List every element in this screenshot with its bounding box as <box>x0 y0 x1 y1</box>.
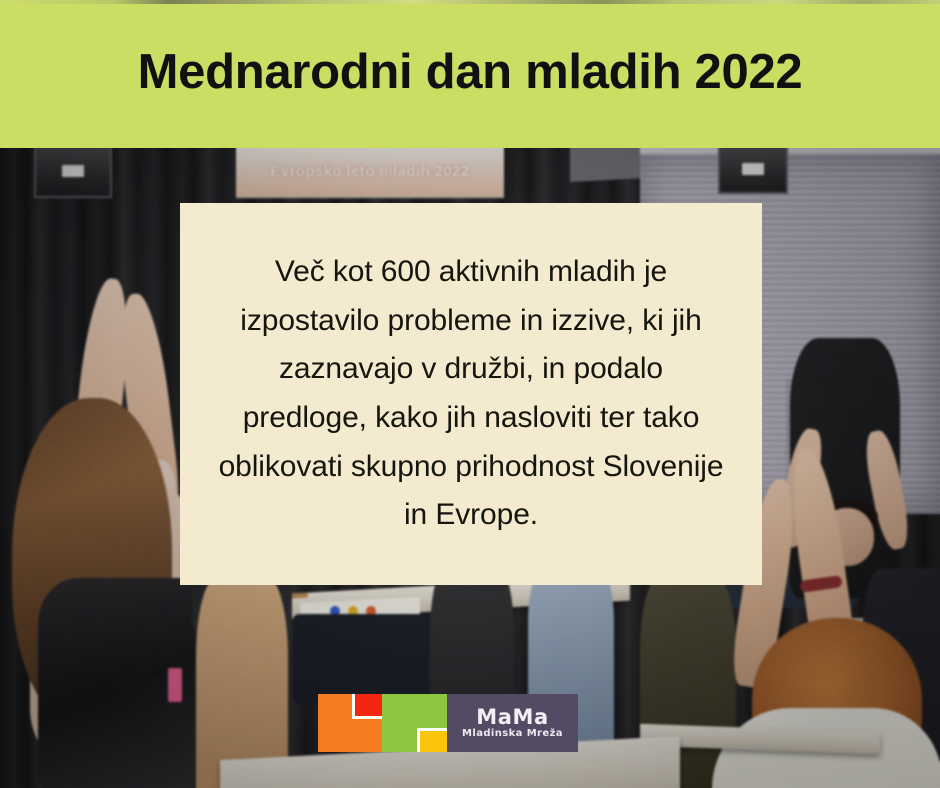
logo-square-yellow <box>417 728 447 752</box>
participant-left-skirt <box>38 578 218 788</box>
ceiling-speaker-right <box>718 148 788 194</box>
mama-logo-plate: MaMa Mladinska Mreža <box>447 694 578 752</box>
desk-item <box>168 668 182 702</box>
logo-square-green <box>382 694 447 752</box>
page-title: Mednarodni dan mladih 2022 <box>138 48 803 101</box>
mama-logo: MaMa Mladinska Mreža <box>318 694 578 752</box>
header-banner: Mednarodni dan mladih 2022 <box>0 0 940 148</box>
logo-square-red <box>352 694 382 719</box>
ceiling-speaker-left <box>34 148 112 198</box>
projector-screen: Evropsko leto mladih 2022 <box>236 148 504 198</box>
mama-logo-tagline: Mladinska Mreža <box>462 729 563 739</box>
projector-screen-text: Evropsko leto mladih 2022 <box>270 163 469 180</box>
logo-square-orange <box>318 694 382 752</box>
mama-logo-marks <box>318 694 447 752</box>
caption-text: Več kot 600 aktivnih mladih je izpostavi… <box>214 248 728 540</box>
speaker-badge-icon <box>742 163 764 175</box>
photo-top-sliver <box>0 0 940 4</box>
caption-card: Več kot 600 aktivnih mladih je izpostavi… <box>180 203 762 585</box>
poster: Evropsko leto mladih 2022 <box>0 0 940 788</box>
mama-logo-wordmark: MaMa <box>476 707 549 728</box>
speaker-badge-icon <box>62 165 84 177</box>
